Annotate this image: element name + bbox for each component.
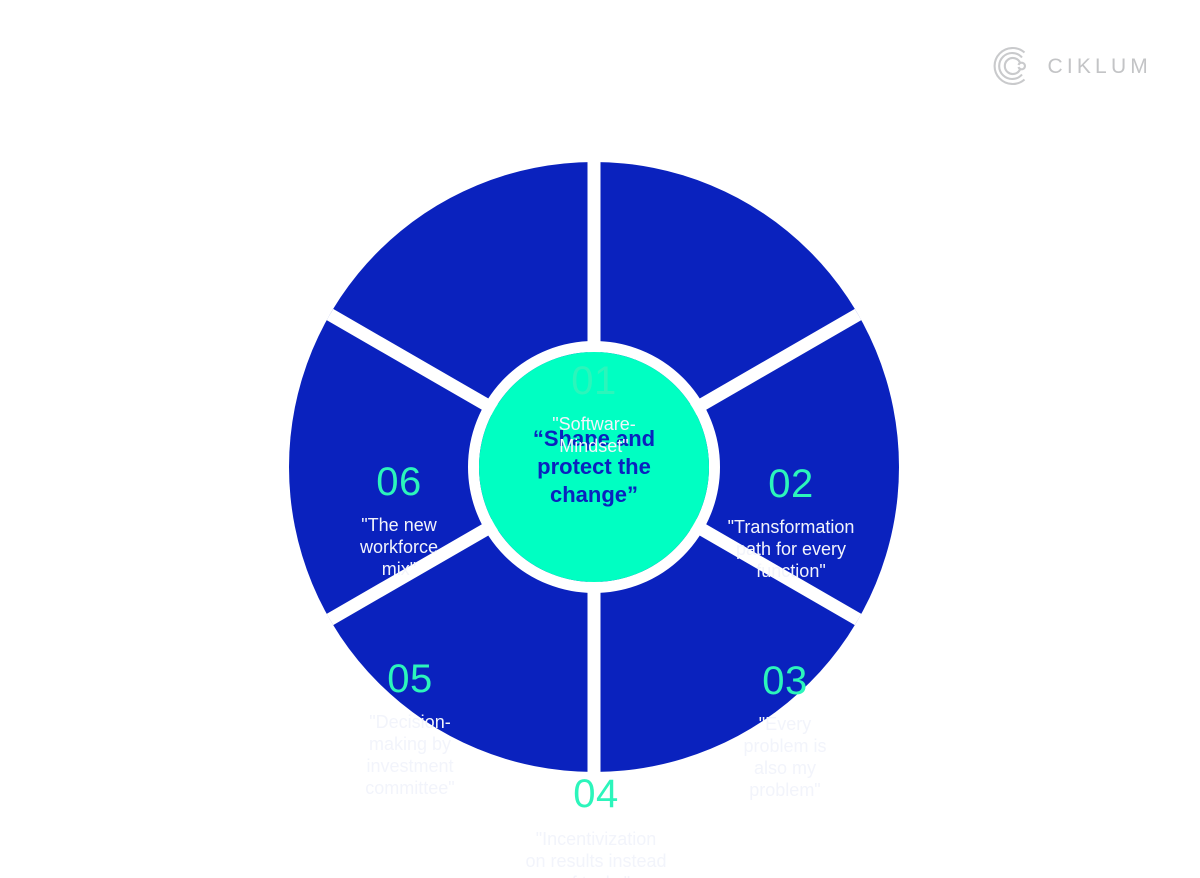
segment-number: 06 — [309, 462, 489, 502]
wheel-segment-01[interactable]: 01 "Software- Mindset" — [504, 361, 684, 458]
segment-number: 01 — [504, 361, 684, 401]
segment-number: 05 — [320, 659, 500, 699]
wheel-segment-02[interactable]: 02 "Transformation path for every functi… — [701, 464, 881, 583]
brand-logo: CIKLUM — [989, 44, 1152, 88]
ciklum-c-arcs-icon — [989, 44, 1033, 88]
brand-name: CIKLUM — [1047, 56, 1152, 77]
wheel-segment-03[interactable]: 03 "Every problem is also my problem" — [695, 661, 875, 802]
segment-label: "Transformation path for every function" — [701, 517, 881, 583]
segment-number: 03 — [695, 661, 875, 701]
page-root: CIKLUM “Shape and protect the change” — [0, 0, 1200, 878]
segment-label: "The new workforce mix" — [309, 515, 489, 581]
wheel-diagram: “Shape and protect the change” 01 "Softw… — [289, 162, 899, 772]
segment-number: 02 — [701, 464, 881, 504]
segment-label: "Incentivization on results instead of t… — [501, 829, 691, 878]
wheel-segment-05[interactable]: 05 "Decision- making by investment commi… — [320, 659, 500, 800]
segment-label: "Decision- making by investment committe… — [320, 712, 500, 800]
segment-label: "Software- Mindset" — [504, 414, 684, 458]
segment-label: "Every problem is also my problem" — [695, 714, 875, 802]
wheel-segment-06[interactable]: 06 "The new workforce mix" — [309, 462, 489, 581]
segment-number: 04 — [501, 774, 691, 814]
wheel-segment-04[interactable]: 04 "Incentivization on results instead o… — [501, 774, 691, 878]
